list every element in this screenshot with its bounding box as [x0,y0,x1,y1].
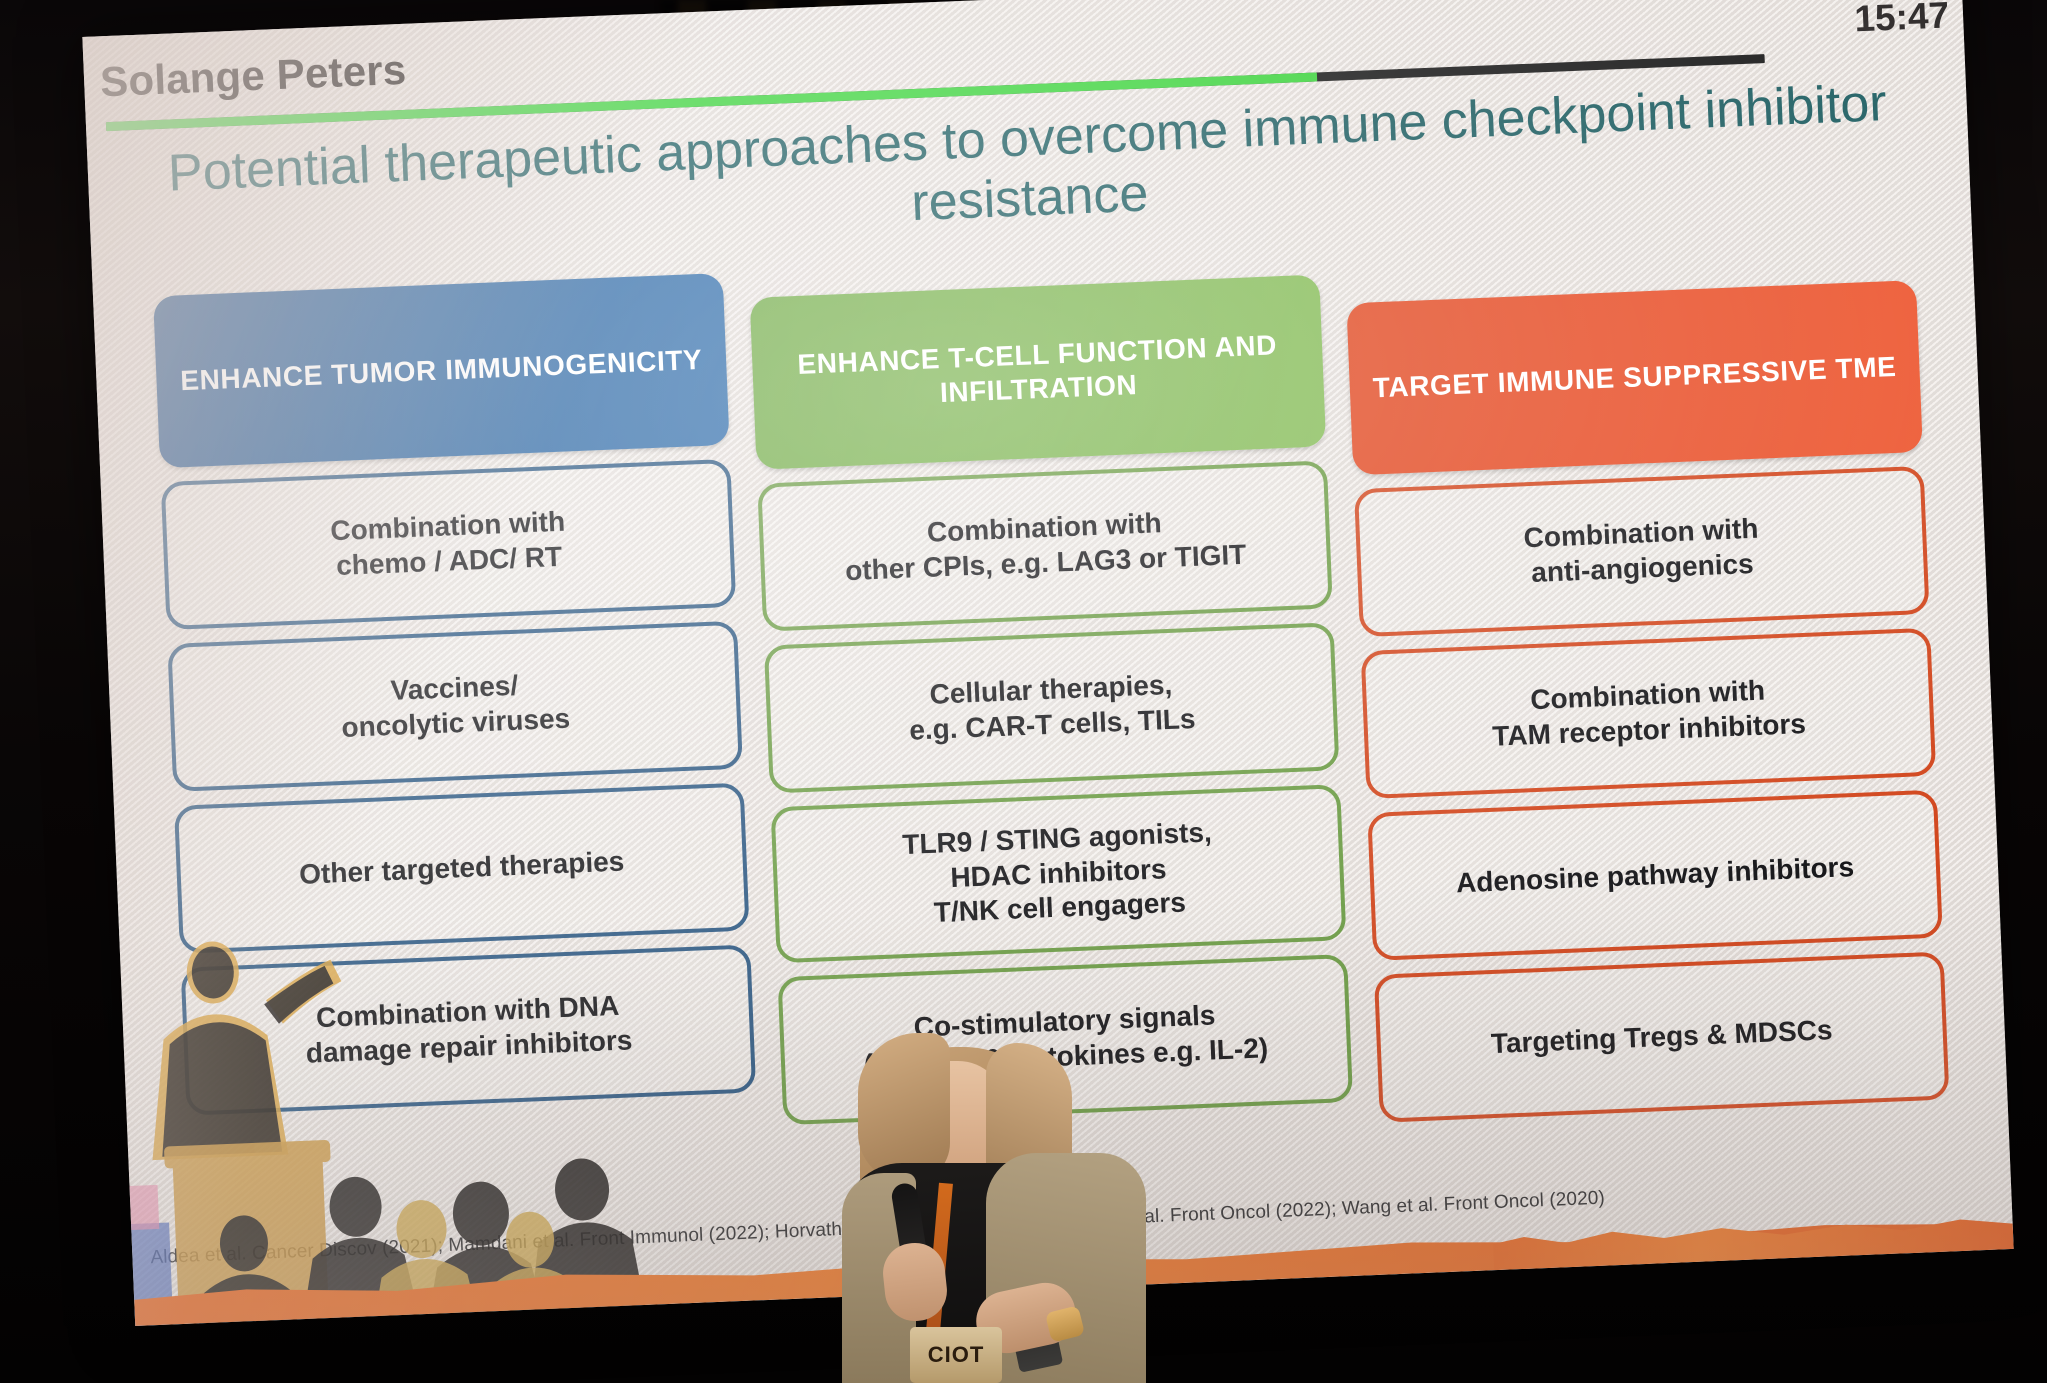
column-target-immune-suppressive-tme: TARGET IMMUNE SUPPRESSIVE TME Combinatio… [1346,280,1949,1123]
approach-item: Combination withchemo / ADC/ RT [161,459,737,630]
speaker-name: Solange Peters [99,46,407,107]
session-timer: 15:47 [1854,0,1950,40]
presenter-figure: CIOT [836,1027,1156,1383]
approach-item: Combination withTAM receptor inhibitors [1361,628,1937,799]
column-header: ENHANCE T-CELL FUNCTION AND INFILTRATION [750,275,1327,470]
column-enhance-tcell-function: ENHANCE T-CELL FUNCTION AND INFILTRATION… [750,275,1354,1148]
approach-item: Vaccines/oncolytic viruses [167,621,743,792]
approach-item: Adenosine pathway inhibitors [1367,790,1943,961]
approach-item: Combination withanti-angiogenics [1354,466,1930,637]
presenter-hair-front-left [858,1033,950,1183]
photo-scene: Solange Peters 15:47 Potential therapeut… [0,0,2047,1383]
approach-item: Combination with DNAdamage repair inhibi… [181,944,757,1115]
approach-item: Other targeted therapies [174,783,750,954]
column-enhance-tumor-immunogenicity: ENHANCE TUMOR IMMUNOGENICITY Combination… [153,273,758,1172]
approach-item: Cellular therapies,e.g. CAR-T cells, TIL… [764,622,1340,793]
stage-front-banner-right [1492,1207,2013,1270]
column-header: ENHANCE TUMOR IMMUNOGENICITY [153,273,730,468]
presenter-badge: CIOT [910,1327,1002,1383]
approach-item: TLR9 / STING agonists,HDAC inhibitorsT/N… [771,784,1347,963]
approach-item: Targeting Tregs & MDSCs [1374,951,1950,1122]
column-header: TARGET IMMUNE SUPPRESSIVE TME [1346,280,1923,475]
approach-item: Combination withother CPIs, e.g. LAG3 or… [757,460,1333,631]
